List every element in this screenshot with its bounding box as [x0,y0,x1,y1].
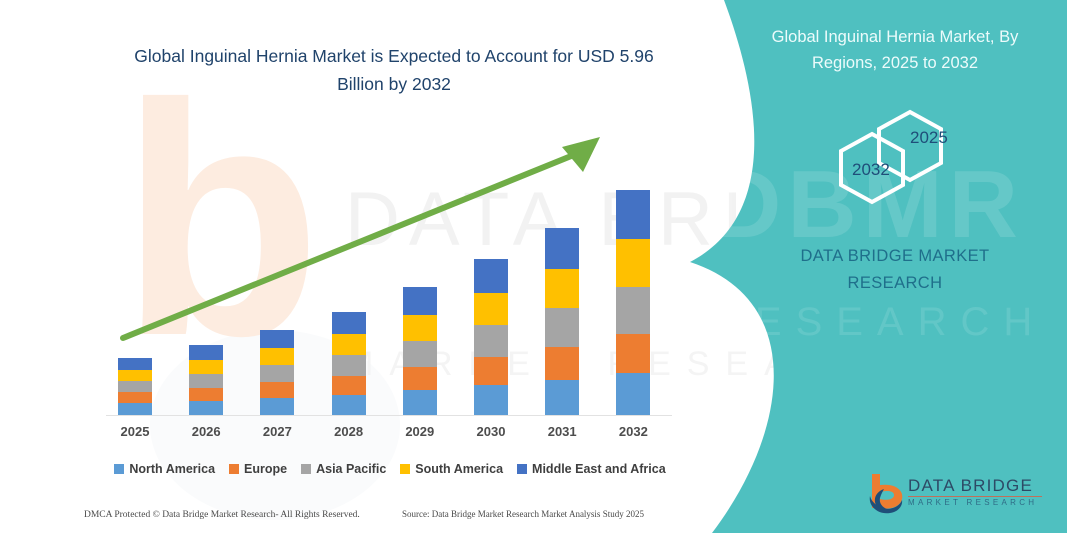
legend-item[interactable]: North America [114,462,215,476]
x-axis-label-2032: 2032 [598,424,668,439]
x-axis-label-2026: 2026 [171,424,241,439]
footer-source: Source: Data Bridge Market Research Mark… [402,509,644,519]
legend-item[interactable]: Europe [229,462,287,476]
legend-swatch-icon [229,464,239,474]
data-bridge-logo: DATA BRIDGE MARKET RESEARCH [866,472,1056,520]
legend-swatch-icon [114,464,124,474]
x-axis-labels: 20252026202720282029203020312032 [0,424,700,446]
legend-swatch-icon [400,464,410,474]
legend-item[interactable]: Asia Pacific [301,462,386,476]
x-axis-label-2028: 2028 [314,424,384,439]
legend-label: South America [415,462,503,476]
footer-copyright: DMCA Protected © Data Bridge Market Rese… [84,510,360,520]
x-axis-label-2031: 2031 [527,424,597,439]
hexagon-year-2032: 2032 [852,160,890,180]
legend-label: Middle East and Africa [532,462,666,476]
hexagon-year-2025: 2025 [910,128,948,148]
growth-arrow-icon [0,0,700,420]
x-axis-label-2030: 2030 [456,424,526,439]
logo-mark-icon [866,472,910,518]
legend-label: Europe [244,462,287,476]
stacked-bar-chart: 20252026202720282029203020312032 [0,0,700,533]
x-axis-label-2027: 2027 [242,424,312,439]
legend-item[interactable]: Middle East and Africa [517,462,666,476]
legend-swatch-icon [301,464,311,474]
legend-swatch-icon [517,464,527,474]
infographic-slide: b DATA BRIDGE MARKET RESEARCH DBMR RESEA… [0,0,1067,533]
x-axis-label-2025: 2025 [100,424,170,439]
x-axis-label-2029: 2029 [385,424,455,439]
right-panel-title: Global Inguinal Hernia Market, By Region… [745,24,1045,76]
chart-legend: North AmericaEuropeAsia PacificSouth Ame… [100,459,680,479]
hexagon-pair-graphic [800,108,980,208]
logo-divider [908,496,1042,497]
logo-line1: DATA BRIDGE [908,476,1033,496]
legend-label: North America [129,462,215,476]
legend-item[interactable]: South America [400,462,503,476]
right-panel-watermark-line2: RESEARCH [712,300,1067,345]
right-panel-brand: DATA BRIDGE MARKET RESEARCH [760,243,1030,297]
logo-line2: MARKET RESEARCH [908,498,1037,507]
legend-label: Asia Pacific [316,462,386,476]
